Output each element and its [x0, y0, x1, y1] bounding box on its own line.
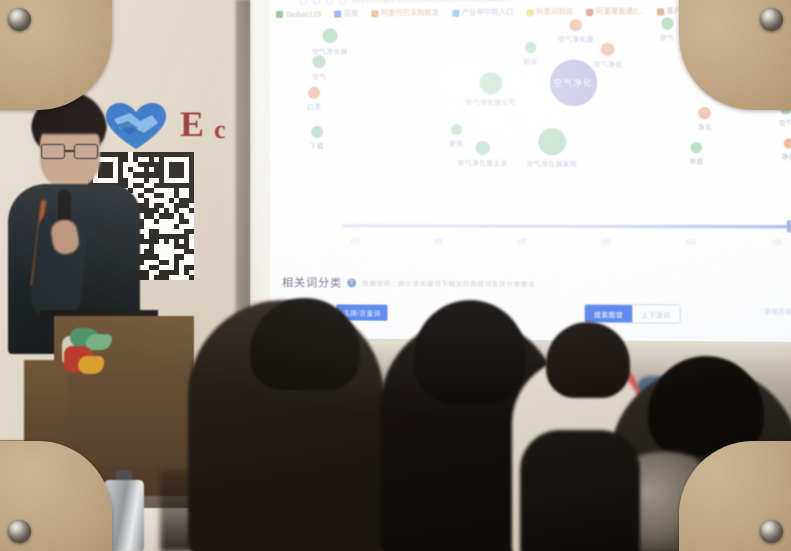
bubble-label: 空气净化器企业 [458, 157, 508, 167]
axis-tick: 2月 [350, 236, 359, 246]
bookmark-label: 产业带学院入口 [462, 7, 513, 17]
bubble-label: 空气净化器公司 [466, 96, 516, 106]
glasses-icon [41, 144, 98, 159]
bookmark-item[interactable]: 产业带学院入口 [452, 7, 513, 17]
bubble-label: 空气净化器 [558, 33, 594, 43]
bubble-node[interactable] [780, 103, 791, 114]
bubble-node[interactable] [311, 126, 323, 138]
bubble-node[interactable] [538, 128, 566, 155]
bubble-label: 空气 [779, 116, 791, 126]
bookmark-label: Taobao123 [285, 9, 321, 18]
thermos-flask [104, 480, 144, 551]
favicon-icon [526, 9, 533, 16]
axis-tick-labels: 2月3月4月5月6月7月 [350, 236, 781, 247]
favicon-icon [657, 8, 664, 15]
bookmark-item[interactable]: 阿里零售通2... [586, 6, 643, 17]
photograph: https://index.1688.com/index.htm?keyword… [0, 0, 791, 551]
qr-cell [189, 275, 194, 280]
presenter-fringe [32, 104, 106, 134]
bubble-label: 空气净化 [594, 58, 623, 68]
axis-tick: 6月 [686, 237, 696, 247]
bubble-node[interactable] [570, 19, 582, 31]
bubble-label: 空气 [660, 32, 674, 42]
bubble-label: 甲醛 [689, 155, 704, 165]
bookmark-star-icon[interactable]: ☆ [746, 0, 754, 2]
audience-head [414, 300, 526, 404]
bookmark-item[interactable]: 阿里巴巴采购批发 [371, 8, 439, 19]
bubble-node[interactable]: 空气净化 [550, 60, 597, 107]
bubble-node[interactable] [661, 17, 673, 29]
axis-tick: 3月 [433, 236, 442, 246]
bubble-node[interactable] [308, 87, 320, 99]
bookmark-label: 客户汇总... [667, 6, 703, 16]
info-icon[interactable]: ? [347, 278, 356, 287]
bubble-chart[interactable]: 空气净化器空气口罩下载新风空气净化器公司新风空气净化器空气空气净化空气净空气净化… [270, 19, 791, 213]
bubble-node[interactable] [313, 55, 326, 68]
logo-letter-E: E [180, 103, 204, 145]
bubble-node[interactable] [765, 20, 775, 30]
projected-screen: https://index.1688.com/index.htm?keyword… [270, 0, 791, 342]
forward-icon[interactable] [313, 0, 320, 5]
bubble-node[interactable] [525, 42, 536, 53]
bookmark-item[interactable]: Taobao123 [276, 9, 321, 18]
reload-icon[interactable] [326, 0, 333, 5]
bubble-node[interactable] [322, 28, 337, 43]
panel-title-text: 相关词分类 [282, 274, 342, 290]
favicon-icon [371, 10, 378, 17]
axis-tick: 4月 [517, 237, 527, 247]
bubble-label: 净化 [698, 121, 713, 131]
home-icon[interactable] [339, 0, 346, 5]
bubble-label: 空气 [313, 70, 327, 80]
audience-head [546, 322, 630, 398]
bookmark-item[interactable]: 阿里问到底 [526, 7, 573, 17]
bubble-node[interactable] [451, 124, 462, 135]
bubble-label: 空气净 [759, 32, 781, 42]
audience-member [520, 430, 640, 551]
bookmark-item[interactable]: 客户汇总... [657, 6, 703, 16]
bookmark-label: 阿里巴巴采购批发 [381, 8, 439, 18]
bookmark-label: 百度 [344, 8, 358, 18]
panel-subtitle: 数据说明：展示该关键词下相关的热搜词及其分类情况 [362, 277, 535, 288]
back-icon[interactable] [300, 0, 307, 5]
bubble-node[interactable] [691, 142, 702, 153]
favicon-icon [586, 8, 593, 15]
favicon-icon [334, 10, 341, 17]
bubble-label: 空气净化器 [312, 45, 347, 55]
view-toggle-group[interactable]: 搜索图谱 上下游词 [584, 304, 681, 324]
bubble-label: 口罩 [307, 101, 321, 111]
panel-title: 相关词分类 ? [282, 274, 356, 290]
axis-tick: 7月 [772, 237, 782, 247]
horizontal-scrollbar-thumb[interactable] [787, 220, 791, 232]
bubble-label: 下载 [310, 140, 324, 150]
horizontal-scrollbar-track[interactable] [342, 224, 791, 228]
bubble-label: 新风 [523, 55, 537, 65]
bookmark-item[interactable]: 百度 [334, 8, 358, 18]
bubble-node[interactable] [699, 107, 711, 119]
podium-decoration [62, 328, 118, 374]
bubble-node[interactable] [784, 138, 791, 148]
bubble-node[interactable] [601, 43, 614, 56]
podium-side [24, 360, 68, 496]
bubble-label: 净化 [782, 151, 791, 161]
bookmark-label: 阿里问到底 [536, 7, 573, 17]
bubble-node[interactable] [480, 72, 502, 94]
toggle-search-graph[interactable]: 搜索图谱 [585, 305, 632, 323]
bubble-label: 空气净化器家用 [527, 157, 577, 167]
logo-letter-c: c [214, 115, 226, 145]
bubble-label: 新风 [449, 137, 463, 147]
axis-tick: 5月 [601, 237, 611, 247]
bookmark-label: 阿里零售通2... [596, 6, 643, 16]
data-range-note: 数据范围 [765, 307, 791, 316]
toggle-updown-words[interactable]: 上下游词 [632, 305, 679, 323]
favicon-icon [452, 9, 459, 16]
url-text: https://index.1688.com/index.htm?keyword… [352, 0, 514, 4]
favicon-icon [276, 10, 283, 17]
bubble-node[interactable] [476, 141, 490, 155]
